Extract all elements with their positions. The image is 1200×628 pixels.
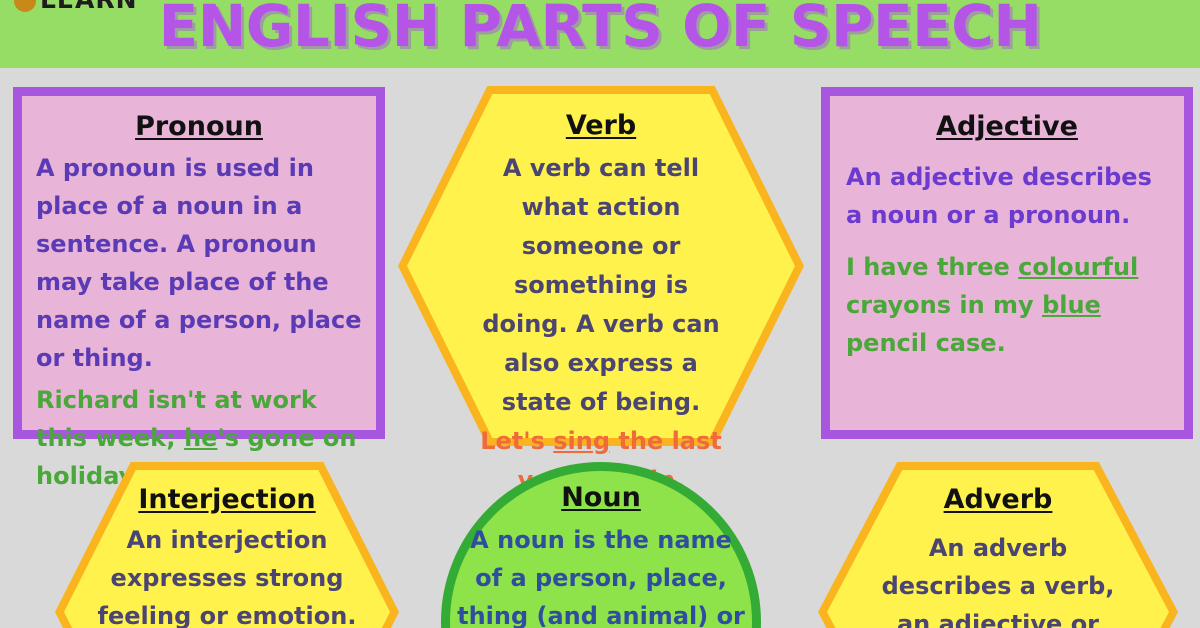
card-pronoun: Pronoun A pronoun is used in place of a …: [13, 87, 385, 439]
card-noun: Noun A noun is the name of a person, pla…: [441, 462, 761, 628]
card-adverb-content: Adverb An adverb describes a verb, an ad…: [864, 484, 1132, 628]
card-interjection-title: Interjection: [77, 484, 377, 515]
card-adjective: Adjective An adjective describes a noun …: [821, 87, 1193, 439]
page-title: ENGLISH PARTS OF SPEECH: [0, 0, 1200, 64]
example-highlight-word: he: [184, 424, 217, 452]
card-pronoun-inner: Pronoun A pronoun is used in place of a …: [22, 96, 376, 430]
example-text-mid: crayons in my: [846, 291, 1042, 319]
card-adverb: Adverb An adverb describes a verb, an ad…: [818, 462, 1178, 628]
card-noun-definition: A noun is the name of a person, place, t…: [455, 521, 747, 628]
card-pronoun-definition: A pronoun is used in place of a noun in …: [36, 149, 362, 377]
card-verb-content: Verb A verb can tell what action someone…: [470, 110, 732, 500]
example-highlight-word-2: blue: [1042, 291, 1101, 319]
card-pronoun-title: Pronoun: [36, 111, 362, 142]
example-text-post: pencil case.: [846, 329, 1006, 357]
card-interjection: Interjection An interjection expresses s…: [55, 462, 399, 628]
card-noun-title: Noun: [455, 482, 747, 513]
card-adverb-title: Adverb: [864, 484, 1132, 515]
card-adjective-definition: An adjective describes a noun or a prono…: [846, 158, 1168, 234]
card-noun-content: Noun A noun is the name of a person, pla…: [455, 482, 747, 628]
example-highlight-word: colourful: [1018, 253, 1138, 281]
card-adverb-definition: An adverb describes a verb, an adjective…: [864, 529, 1132, 628]
header-banner: LEARN ENGLISH PARTS OF SPEECH: [0, 0, 1200, 68]
card-verb: Verb A verb can tell what action someone…: [398, 86, 804, 446]
card-adjective-title: Adjective: [846, 111, 1168, 142]
example-highlight-word: sing: [553, 427, 610, 455]
card-interjection-content: Interjection An interjection expresses s…: [77, 484, 377, 628]
example-text-pre: I have three: [846, 253, 1018, 281]
card-adjective-inner: Adjective An adjective describes a noun …: [830, 96, 1184, 430]
card-verb-title: Verb: [470, 110, 732, 141]
card-interjection-definition: An interjection expresses strong feeling…: [77, 521, 377, 628]
card-adjective-example: I have three colourful crayons in my blu…: [846, 248, 1168, 362]
infographic-canvas: LEARN ENGLISH PARTS OF SPEECH Pronoun A …: [0, 0, 1200, 628]
card-verb-definition: A verb can tell what action someone or s…: [470, 149, 732, 422]
example-text-pre: Let's: [480, 427, 553, 455]
